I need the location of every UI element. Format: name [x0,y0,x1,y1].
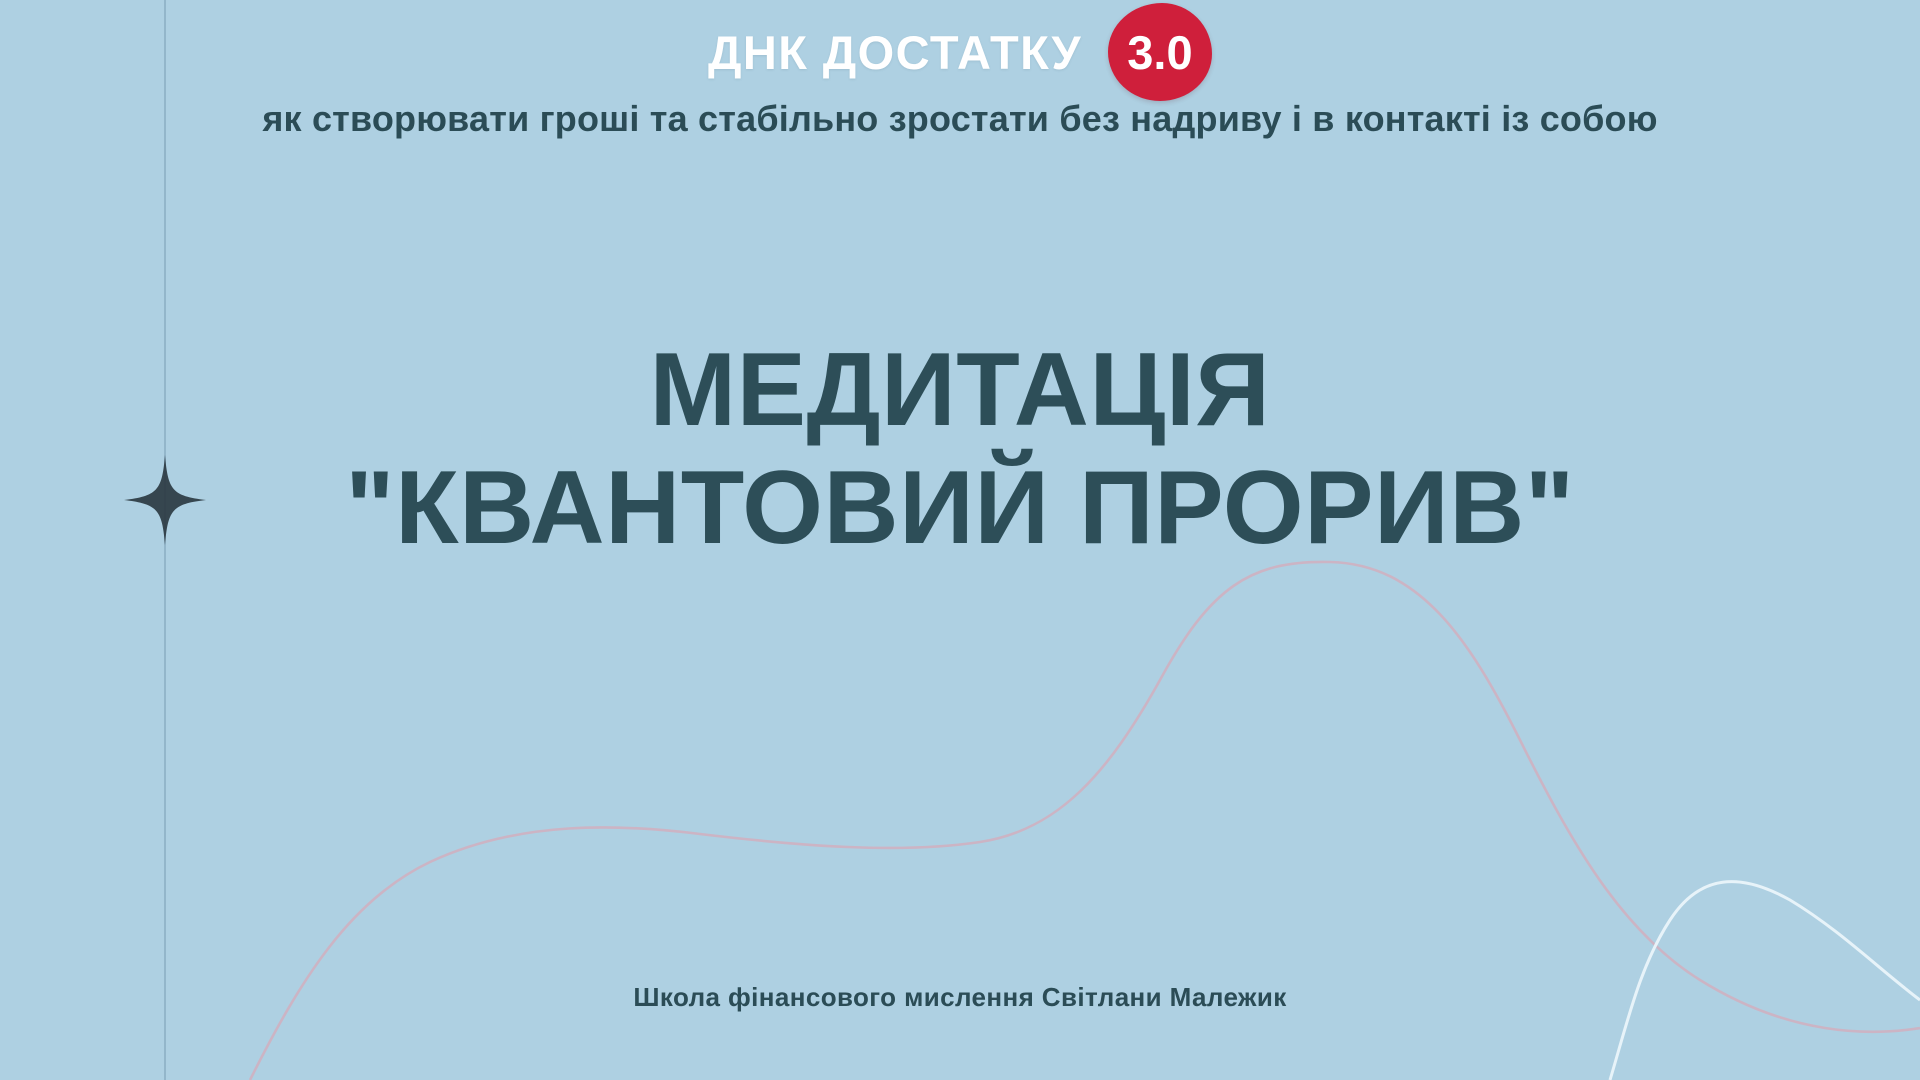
slide-footer: Школа фінансового мислення Світлани Мале… [0,982,1920,1013]
slide-title-block: МЕДИТАЦІЯ "КВАНТОВИЙ ПРОРИВ" [0,332,1920,567]
slide-header: ДНК ДОСТАТКУ 3.0 як створювати гроші та … [0,0,1920,140]
brand-title: ДНК ДОСТАТКУ [708,29,1082,76]
version-badge: 3.0 [1108,3,1212,101]
version-badge-label: 3.0 [1127,29,1192,76]
title-line-1: МЕДИТАЦІЯ [0,332,1920,450]
brand-row: ДНК ДОСТАТКУ 3.0 [0,0,1920,104]
school-credit: Школа фінансового мислення Світлани Мале… [0,982,1920,1013]
presentation-slide: ДНК ДОСТАТКУ 3.0 як створювати гроші та … [0,0,1920,1080]
tagline: як створювати гроші та стабільно зростат… [0,98,1920,140]
white-wave-curve [1610,882,1920,1080]
title-line-2: "КВАНТОВИЙ ПРОРИВ" [0,450,1920,568]
